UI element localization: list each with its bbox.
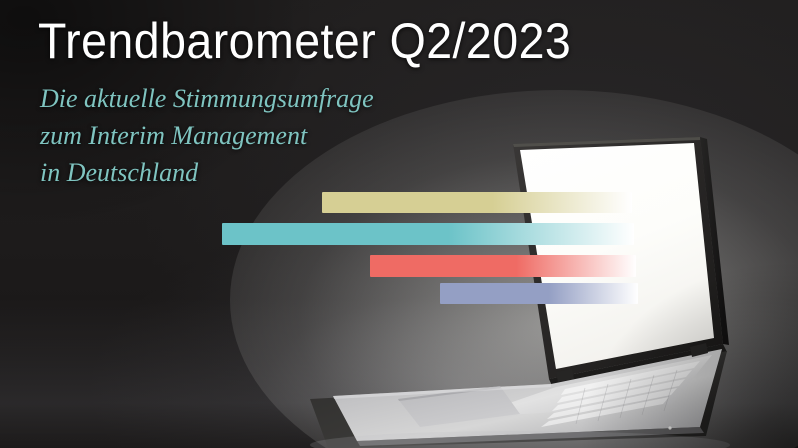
page-title: Trendbarometer Q2/2023 <box>38 13 571 69</box>
slide-canvas: Trendbarometer Q2/2023 Die aktuelle Stim… <box>0 0 798 448</box>
subtitle-line-3: in Deutschland <box>40 154 374 191</box>
subtitle-line-2: zum Interim Management <box>40 117 374 154</box>
subtitle-line-1: Die aktuelle Stimmungsumfrage <box>40 80 374 117</box>
page-subtitle: Die aktuelle Stimmungsumfrage zum Interi… <box>40 80 374 191</box>
